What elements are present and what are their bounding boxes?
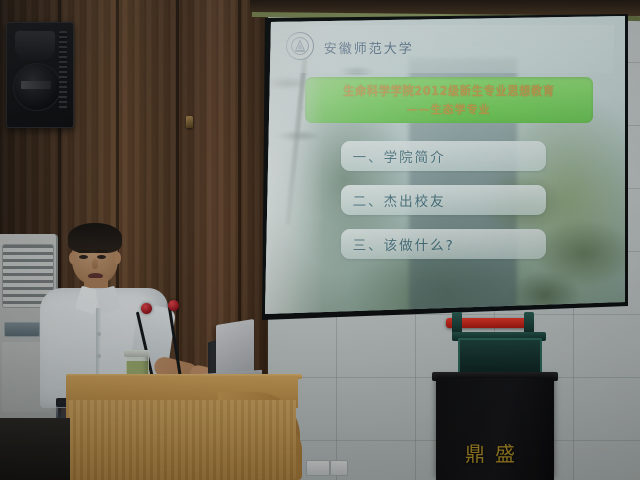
list-item: 二、杰出校友 <box>341 185 546 215</box>
list-item: 一、学院简介 <box>341 141 546 171</box>
wall-power-outlet-icon <box>306 460 330 476</box>
photo-scene: 安徽师范大学 生命科学学院2012级新生专业思想教育 ——生态学专业 一、学院简… <box>0 0 640 480</box>
microphone-windscreen <box>168 300 179 311</box>
agenda-item-label: 一、学院简介 <box>341 146 446 166</box>
slide-agenda-list: 一、学院简介 二、杰出校友 三、该做什么? <box>341 141 546 273</box>
slide-title-line-2: ——生态学专业 <box>407 101 491 117</box>
projection-screen[interactable]: 安徽师范大学 生命科学学院2012级新生专业思想教育 ——生态学专业 一、学院简… <box>265 16 625 314</box>
slide-header: 安徽师范大学 <box>276 25 614 73</box>
microphone-windscreen <box>141 303 152 314</box>
slide-title-line-1: 生命科学学院2012级新生专业思想教育 <box>343 83 555 100</box>
slide-title-banner: 生命科学学院2012级新生专业思想教育 ——生态学专业 <box>305 77 593 123</box>
floor-shadow <box>0 418 70 480</box>
pedestal-inscription: 鼎盛 <box>436 438 554 467</box>
wall-power-outlet-icon <box>330 460 348 476</box>
agenda-item-label: 三、该做什么? <box>341 234 455 254</box>
podium <box>66 400 296 480</box>
wall-speaker-icon <box>6 22 74 128</box>
university-name: 安徽师范大学 <box>324 38 414 57</box>
agenda-item-label: 二、杰出校友 <box>341 190 446 210</box>
door-handle-icon <box>186 116 193 128</box>
list-item: 三、该做什么? <box>341 229 546 259</box>
university-crest-icon <box>286 32 314 60</box>
presenter-hair <box>68 223 122 253</box>
